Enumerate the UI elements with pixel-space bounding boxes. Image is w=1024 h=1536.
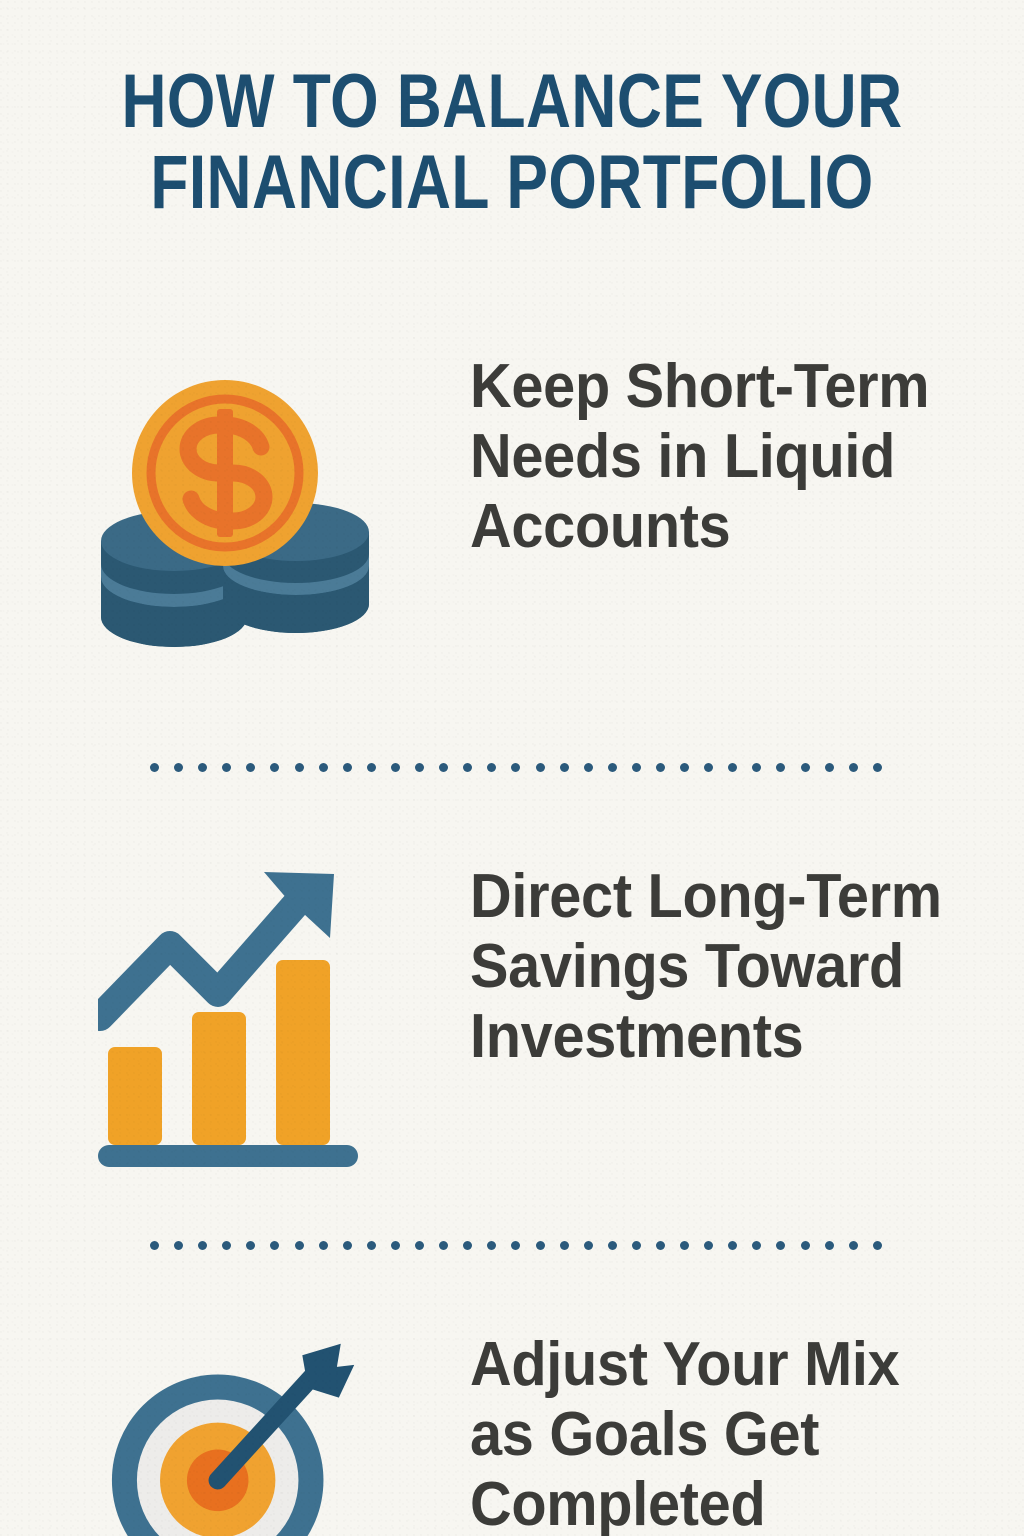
divider-dot — [584, 763, 593, 772]
tip-row-1: Keep Short-Term Needs in Liquid Accounts — [0, 352, 1024, 653]
divider-dot — [632, 1241, 641, 1250]
divider-dot — [319, 763, 328, 772]
divider-dot — [752, 1241, 761, 1250]
divider-dot — [391, 763, 400, 772]
divider-dot — [849, 1241, 858, 1250]
divider-dot — [584, 1241, 593, 1250]
divider-dot — [150, 763, 159, 772]
divider-dot — [174, 1241, 183, 1250]
divider-dot — [487, 763, 496, 772]
tip-1-icon-container — [0, 352, 470, 653]
tip-2-text: Direct Long-Term Savings Toward Investme… — [470, 862, 963, 1072]
stacked-coins-icon — [95, 368, 375, 653]
tip-3-text: Adjust Your Mix as Goals Get Completed — [470, 1330, 963, 1536]
divider-dot — [560, 763, 569, 772]
divider-dot — [728, 763, 737, 772]
divider-dot — [873, 1241, 882, 1250]
divider-dot — [656, 1241, 665, 1250]
section-divider-1 — [150, 762, 882, 772]
divider-dot — [463, 763, 472, 772]
tip-2-icon-container — [0, 862, 470, 1172]
divider-dot — [632, 763, 641, 772]
divider-dot — [222, 1241, 231, 1250]
divider-dot — [319, 1241, 328, 1250]
divider-dot — [270, 1241, 279, 1250]
divider-dot — [415, 1241, 424, 1250]
divider-dot — [439, 763, 448, 772]
divider-dot — [487, 1241, 496, 1250]
divider-dot — [536, 763, 545, 772]
divider-dot — [752, 763, 761, 772]
divider-dot — [198, 763, 207, 772]
page-title: HOW TO BALANCE YOUR FINANCIAL PORTFOLIO — [0, 66, 1024, 220]
divider-dot — [150, 1241, 159, 1250]
divider-dot — [873, 763, 882, 772]
tip-row-3: Adjust Your Mix as Goals Get Completed — [0, 1330, 1024, 1536]
divider-dot — [704, 763, 713, 772]
divider-dot — [295, 763, 304, 772]
divider-dot — [174, 763, 183, 772]
divider-dot — [680, 763, 689, 772]
divider-dot — [536, 1241, 545, 1250]
divider-dot — [222, 763, 231, 772]
divider-dot — [391, 1241, 400, 1250]
divider-dot — [704, 1241, 713, 1250]
divider-dot — [295, 1241, 304, 1250]
divider-dot — [560, 1241, 569, 1250]
tip-3-icon-container — [0, 1330, 470, 1536]
divider-dot — [825, 1241, 834, 1250]
divider-dot — [367, 763, 376, 772]
divider-dot — [728, 1241, 737, 1250]
divider-dot — [680, 1241, 689, 1250]
divider-dot — [198, 1241, 207, 1250]
growth-bar-chart-icon — [98, 862, 373, 1172]
tip-3-text-container: Adjust Your Mix as Goals Get Completed — [470, 1330, 1024, 1536]
divider-dot — [415, 763, 424, 772]
divider-dot — [608, 763, 617, 772]
divider-dot — [246, 1241, 255, 1250]
title-line-1: HOW TO BALANCE YOUR — [92, 66, 932, 139]
divider-dot — [367, 1241, 376, 1250]
divider-dot — [849, 763, 858, 772]
divider-dot — [825, 763, 834, 772]
divider-dot — [656, 763, 665, 772]
target-with-arrow-icon — [105, 1338, 365, 1536]
divider-dot — [608, 1241, 617, 1250]
tip-row-2: Direct Long-Term Savings Toward Investme… — [0, 862, 1024, 1172]
tip-2-text-container: Direct Long-Term Savings Toward Investme… — [470, 862, 1024, 1072]
title-line-2: FINANCIAL PORTFOLIO — [92, 147, 932, 220]
divider-dot — [801, 763, 810, 772]
tip-1-text: Keep Short-Term Needs in Liquid Accounts — [470, 352, 963, 562]
divider-dot — [776, 1241, 785, 1250]
divider-dot — [270, 763, 279, 772]
divider-dot — [246, 763, 255, 772]
section-divider-2 — [150, 1240, 882, 1250]
divider-dot — [511, 763, 520, 772]
divider-dot — [439, 1241, 448, 1250]
divider-dot — [801, 1241, 810, 1250]
divider-dot — [511, 1241, 520, 1250]
divider-dot — [343, 1241, 352, 1250]
divider-dot — [463, 1241, 472, 1250]
divider-dot — [343, 763, 352, 772]
divider-dot — [776, 763, 785, 772]
tip-1-text-container: Keep Short-Term Needs in Liquid Accounts — [470, 352, 1024, 562]
